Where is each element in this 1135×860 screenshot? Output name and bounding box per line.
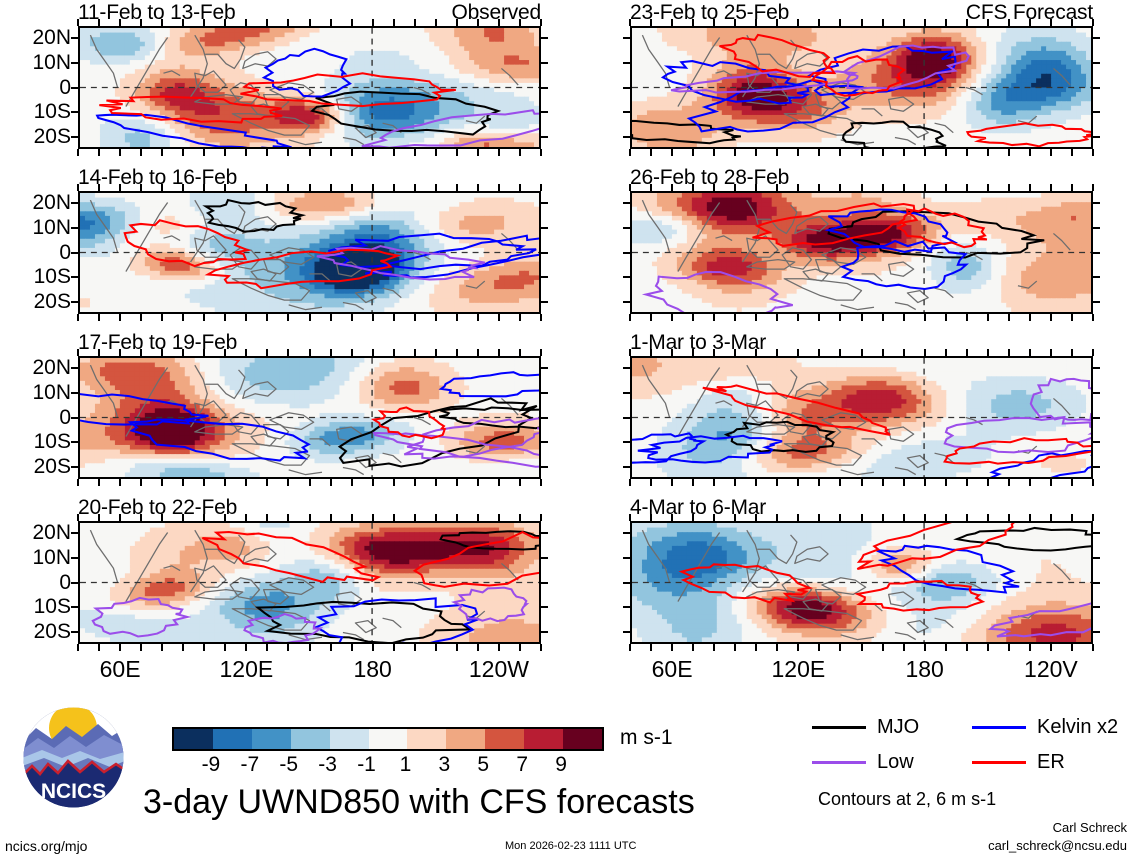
y-axis-tick: [623, 136, 630, 138]
x-axis-tick: [119, 644, 121, 651]
x-axis-tick: [797, 314, 799, 321]
x-axis-tick: [224, 479, 226, 486]
x-axis-tick: [351, 514, 353, 521]
x-axis-tick: [140, 184, 142, 191]
colorbar-swatch-3: [291, 729, 330, 749]
y-axis-label: 10S: [34, 595, 71, 619]
x-axis-tick: [882, 349, 884, 356]
x-axis-tick: [692, 184, 694, 191]
x-axis-tick: [671, 184, 673, 191]
x-axis-tick: [734, 184, 736, 191]
y-axis-tick: [623, 532, 630, 534]
x-axis-tick: [98, 349, 100, 356]
x-axis-tick: [498, 644, 500, 651]
y-axis-tick: [1093, 136, 1100, 138]
x-axis-tick: [924, 184, 926, 191]
x-axis-tick: [797, 514, 799, 521]
x-axis-tick: [203, 314, 205, 321]
x-axis-tick: [797, 349, 799, 356]
x-axis-tick: [945, 514, 947, 521]
x-axis-tick: [903, 479, 905, 486]
main-title: 3-day UWND850 with CFS forecasts: [143, 783, 695, 822]
x-axis-tick: [540, 644, 542, 651]
x-axis-tick: [945, 349, 947, 356]
x-axis-tick: [456, 514, 458, 521]
x-axis-tick: [119, 19, 121, 26]
y-axis-label: 10N: [32, 381, 71, 405]
x-axis-tick: [924, 349, 926, 356]
y-axis-tick: [71, 87, 78, 89]
y-axis-tick: [1093, 466, 1100, 468]
y-axis-label: 20S: [34, 125, 71, 149]
x-axis-tick: [203, 149, 205, 156]
x-axis-tick: [287, 479, 289, 486]
x-axis-tick: [839, 644, 841, 651]
y-axis-label: 20N: [32, 356, 71, 380]
y-axis-tick: [71, 227, 78, 229]
x-axis-tick: [692, 19, 694, 26]
y-axis-tick: [541, 606, 548, 608]
y-axis-tick: [71, 37, 78, 39]
x-axis-tick: [540, 314, 542, 321]
x-axis-tick: [456, 19, 458, 26]
x-axis-tick: [140, 149, 142, 156]
plot-area: [630, 26, 1093, 149]
x-axis-tick: [414, 314, 416, 321]
colorbar-tick-label: 1: [400, 753, 412, 777]
colorbar-swatch-5: [369, 729, 408, 749]
y-axis-tick: [541, 62, 548, 64]
legend-label: Low: [877, 751, 914, 774]
x-axis-tick: [629, 19, 631, 26]
x-axis-tick: [266, 149, 268, 156]
x-axis-tick: [882, 314, 884, 321]
y-axis-label: 0: [59, 241, 71, 265]
x-axis-tick: [692, 479, 694, 486]
x-axis-tick: [414, 19, 416, 26]
x-axis-tick: [650, 314, 652, 321]
x-axis-label: 60E: [652, 656, 693, 683]
legend-line-swatch: [812, 761, 866, 764]
y-axis-tick: [1093, 301, 1100, 303]
x-axis-tick: [924, 314, 926, 321]
x-axis-tick: [182, 19, 184, 26]
x-axis-label: 120V: [1024, 656, 1078, 683]
x-axis-tick: [1029, 349, 1031, 356]
x-axis-tick: [1029, 149, 1031, 156]
x-axis-tick: [818, 349, 820, 356]
y-axis-tick: [541, 532, 548, 534]
x-axis-tick: [987, 644, 989, 651]
colorbar-tick-label: 3: [439, 753, 451, 777]
x-axis-tick: [861, 19, 863, 26]
x-axis-tick: [713, 644, 715, 651]
x-axis-tick: [119, 184, 121, 191]
y-axis-tick: [71, 392, 78, 394]
x-axis-tick: [966, 184, 968, 191]
y-axis-label: 10S: [34, 430, 71, 454]
x-axis-tick: [161, 19, 163, 26]
x-axis-tick: [498, 479, 500, 486]
x-axis-tick: [903, 19, 905, 26]
ncics-logo-text: NCICS: [41, 780, 106, 803]
x-axis-tick: [435, 349, 437, 356]
x-axis-tick: [435, 644, 437, 651]
panel-26-feb-to-28-feb: 26-Feb to 28-Feb: [630, 191, 1093, 314]
x-axis-label: 120E: [220, 656, 274, 683]
x-axis-tick: [1050, 149, 1052, 156]
x-axis-tick: [287, 514, 289, 521]
x-axis-tick: [797, 644, 799, 651]
x-axis-tick: [861, 644, 863, 651]
x-axis-tick: [713, 149, 715, 156]
x-axis-tick: [330, 19, 332, 26]
y-axis-tick: [1093, 631, 1100, 633]
x-axis-tick: [1071, 184, 1073, 191]
x-axis-tick: [797, 19, 799, 26]
x-axis-tick: [351, 644, 353, 651]
x-axis-tick: [414, 514, 416, 521]
y-axis-tick: [71, 441, 78, 443]
x-axis-tick: [203, 349, 205, 356]
x-axis-tick: [140, 514, 142, 521]
legend-item-mjo: MJO: [812, 716, 972, 739]
x-axis-tick: [266, 514, 268, 521]
x-axis-tick: [393, 514, 395, 521]
y-axis-tick: [623, 582, 630, 584]
y-axis-label: 0: [59, 76, 71, 100]
x-axis-tick: [456, 184, 458, 191]
panel-23-feb-to-25-feb: 23-Feb to 25-FebCFS Forecast: [630, 26, 1093, 149]
x-axis-tick: [629, 644, 631, 651]
y-axis-tick: [541, 557, 548, 559]
x-axis-tick: [351, 149, 353, 156]
y-axis-label: 10S: [34, 265, 71, 289]
x-axis-tick: [330, 514, 332, 521]
x-axis-tick: [924, 644, 926, 651]
x-axis-tick: [776, 19, 778, 26]
x-axis-tick: [266, 349, 268, 356]
panel-title: 14-Feb to 16-Feb: [78, 166, 237, 190]
y-axis-tick: [541, 301, 548, 303]
plot-area: [630, 191, 1093, 314]
y-axis-tick: [623, 392, 630, 394]
panel-11-feb-to-13-feb: 11-Feb to 13-FebObserved20N10N010S20S: [78, 26, 541, 149]
panel-title: 26-Feb to 28-Feb: [630, 166, 789, 190]
x-axis-tick: [519, 314, 521, 321]
x-axis-tick: [1029, 479, 1031, 486]
x-axis-tick: [1050, 184, 1052, 191]
x-axis-tick: [477, 644, 479, 651]
x-axis-tick: [1092, 314, 1094, 321]
x-axis-tick: [98, 149, 100, 156]
x-axis-tick: [435, 149, 437, 156]
x-axis-tick: [755, 149, 757, 156]
x-axis-tick: [671, 479, 673, 486]
x-axis-tick: [882, 479, 884, 486]
x-axis-tick: [182, 644, 184, 651]
y-axis-tick: [1093, 417, 1100, 419]
y-axis-tick: [623, 62, 630, 64]
x-axis-tick: [1050, 644, 1052, 651]
x-axis-tick: [203, 19, 205, 26]
y-axis-tick: [541, 441, 548, 443]
x-axis-tick: [351, 314, 353, 321]
y-axis-tick: [541, 87, 548, 89]
x-axis-tick: [77, 479, 79, 486]
x-axis-tick: [245, 644, 247, 651]
y-axis-tick: [71, 252, 78, 254]
y-axis-tick: [71, 466, 78, 468]
x-axis-tick: [98, 19, 100, 26]
x-axis-tick: [203, 514, 205, 521]
x-axis-tick: [1029, 514, 1031, 521]
x-axis-tick: [945, 149, 947, 156]
x-axis-tick: [119, 349, 121, 356]
x-axis-tick: [861, 184, 863, 191]
x-axis-label: 60E: [100, 656, 141, 683]
colorbar-tick-label: -5: [279, 753, 298, 777]
x-axis-tick: [309, 479, 311, 486]
x-axis-tick: [351, 349, 353, 356]
x-axis-tick: [393, 184, 395, 191]
x-axis-tick: [713, 514, 715, 521]
plot-area: [78, 356, 541, 479]
x-axis-tick: [245, 314, 247, 321]
y-axis-tick: [541, 466, 548, 468]
x-axis-tick: [309, 349, 311, 356]
colorbar: -9-7-5-3-113579 m s-1: [172, 727, 604, 777]
x-axis-tick: [1029, 19, 1031, 26]
y-axis-tick: [623, 227, 630, 229]
x-axis-tick: [987, 349, 989, 356]
x-axis-tick: [182, 479, 184, 486]
x-axis-tick: [755, 314, 757, 321]
x-axis-tick: [818, 19, 820, 26]
x-axis-tick: [414, 644, 416, 651]
x-axis-tick: [477, 479, 479, 486]
x-axis-tick: [945, 19, 947, 26]
x-axis-tick: [629, 314, 631, 321]
x-axis-tick: [1092, 19, 1094, 26]
x-axis-tick: [818, 514, 820, 521]
x-axis-tick: [1071, 349, 1073, 356]
x-axis-tick: [119, 314, 121, 321]
x-axis-tick: [1071, 149, 1073, 156]
x-axis-tick: [839, 479, 841, 486]
x-axis-tick: [161, 184, 163, 191]
x-axis-tick: [839, 19, 841, 26]
x-axis-tick: [456, 479, 458, 486]
x-axis-tick: [519, 479, 521, 486]
x-axis-label: 180: [905, 656, 943, 683]
x-axis-tick: [1050, 314, 1052, 321]
y-axis-tick: [71, 111, 78, 113]
x-axis-tick: [1029, 644, 1031, 651]
x-axis-tick: [1008, 314, 1010, 321]
x-axis-tick: [224, 514, 226, 521]
x-axis-tick: [734, 479, 736, 486]
x-axis-tick: [650, 644, 652, 651]
panel-title: 11-Feb to 13-Feb: [78, 1, 236, 25]
x-axis-tick: [1008, 149, 1010, 156]
x-axis-tick: [818, 314, 820, 321]
x-axis-tick: [456, 644, 458, 651]
y-axis-label: 20S: [34, 290, 71, 314]
x-axis-tick: [119, 149, 121, 156]
y-axis-tick: [541, 227, 548, 229]
x-axis-tick: [839, 349, 841, 356]
x-axis-tick: [266, 479, 268, 486]
y-axis-tick: [1093, 87, 1100, 89]
y-axis-tick: [71, 532, 78, 534]
x-axis-tick: [776, 149, 778, 156]
x-axis-tick: [161, 479, 163, 486]
panel-20-feb-to-22-feb: 20-Feb to 22-Feb20N10N010S20S60E120E1801…: [78, 521, 541, 644]
x-axis-tick: [861, 149, 863, 156]
x-axis-tick: [861, 314, 863, 321]
y-axis-tick: [623, 631, 630, 633]
x-axis-tick: [629, 514, 631, 521]
x-axis-tick: [629, 149, 631, 156]
colorbar-swatch-9: [524, 729, 563, 749]
y-axis-tick: [71, 557, 78, 559]
x-axis-tick: [182, 149, 184, 156]
x-axis-tick: [692, 314, 694, 321]
y-axis-label: 20S: [34, 455, 71, 479]
y-axis-tick: [541, 392, 548, 394]
colorbar-tick-label: 7: [516, 753, 528, 777]
x-axis-tick: [372, 349, 374, 356]
x-axis-tick: [882, 19, 884, 26]
x-axis-tick: [456, 349, 458, 356]
x-axis-tick: [372, 19, 374, 26]
x-axis-tick: [224, 644, 226, 651]
x-axis-tick: [309, 644, 311, 651]
x-axis-tick: [161, 349, 163, 356]
x-axis-tick: [650, 514, 652, 521]
x-axis-tick: [987, 19, 989, 26]
x-axis-tick: [477, 349, 479, 356]
x-axis-tick: [650, 349, 652, 356]
y-axis-label: 10N: [32, 51, 71, 75]
x-axis-tick: [351, 479, 353, 486]
x-axis-tick: [266, 314, 268, 321]
x-axis-tick: [477, 149, 479, 156]
x-axis-tick: [1092, 184, 1094, 191]
x-axis-tick: [393, 479, 395, 486]
x-axis-tick: [287, 314, 289, 321]
x-axis-tick: [839, 184, 841, 191]
x-axis-tick: [287, 149, 289, 156]
colorbar-tick-label: -3: [318, 753, 337, 777]
x-axis-tick: [498, 19, 500, 26]
y-axis-tick: [71, 62, 78, 64]
legend-label: Kelvin x2: [1037, 716, 1118, 739]
colorbar-swatch-1: [213, 729, 252, 749]
colorbar-swatch-10: [563, 729, 602, 749]
y-axis-tick: [1093, 252, 1100, 254]
x-axis-tick: [1050, 479, 1052, 486]
y-axis-label: 20N: [32, 26, 71, 50]
x-axis-tick: [797, 149, 799, 156]
x-axis-tick: [1092, 349, 1094, 356]
x-axis-tick: [882, 644, 884, 651]
x-axis-tick: [266, 644, 268, 651]
x-axis-tick: [77, 19, 79, 26]
x-axis-tick: [540, 149, 542, 156]
y-axis-tick: [541, 417, 548, 419]
panel-1-mar-to-3-mar: 1-Mar to 3-Mar: [630, 356, 1093, 479]
x-axis-tick: [203, 644, 205, 651]
x-axis-tick: [650, 19, 652, 26]
x-axis-tick: [435, 314, 437, 321]
x-axis-tick: [77, 149, 79, 156]
x-axis-tick: [966, 479, 968, 486]
x-axis-tick: [98, 514, 100, 521]
x-axis-tick: [224, 349, 226, 356]
x-axis-tick: [477, 514, 479, 521]
x-axis-tick: [966, 19, 968, 26]
x-axis-tick: [1029, 184, 1031, 191]
panel-title: 17-Feb to 19-Feb: [78, 331, 237, 355]
y-axis-label: 20S: [34, 620, 71, 644]
legend-line-swatch: [812, 726, 866, 729]
colorbar-swatch-8: [485, 729, 524, 749]
x-axis-tick: [351, 184, 353, 191]
x-axis-tick: [755, 514, 757, 521]
x-axis-tick: [287, 349, 289, 356]
colorbar-swatch-2: [252, 729, 291, 749]
y-axis-tick: [1093, 276, 1100, 278]
x-axis-tick: [372, 314, 374, 321]
x-axis-tick: [351, 19, 353, 26]
x-axis-tick: [945, 314, 947, 321]
y-axis-label: 20N: [32, 191, 71, 215]
x-axis-tick: [987, 149, 989, 156]
x-axis-tick: [519, 184, 521, 191]
y-axis-label: 10S: [34, 100, 71, 124]
x-axis-tick: [245, 184, 247, 191]
x-axis-tick: [456, 149, 458, 156]
y-axis-tick: [541, 136, 548, 138]
y-axis-tick: [623, 301, 630, 303]
y-axis-tick: [71, 606, 78, 608]
x-axis-tick: [966, 514, 968, 521]
x-axis-tick: [945, 184, 947, 191]
x-axis-tick: [519, 349, 521, 356]
x-axis-tick: [755, 19, 757, 26]
legend-line-swatch: [972, 761, 1026, 764]
x-axis-tick: [776, 314, 778, 321]
colorbar-tick-label: -7: [240, 753, 259, 777]
x-axis-tick: [224, 19, 226, 26]
x-axis-tick: [540, 514, 542, 521]
plot-area: [78, 26, 541, 149]
legend-label: ER: [1037, 751, 1065, 774]
x-axis-tick: [1050, 349, 1052, 356]
y-axis-tick: [1093, 441, 1100, 443]
y-axis-tick: [541, 202, 548, 204]
x-axis-tick: [1092, 479, 1094, 486]
legend-row: LowER: [812, 751, 1132, 774]
x-axis-tick: [77, 349, 79, 356]
x-axis-tick: [1092, 644, 1094, 651]
x-axis-tick: [309, 514, 311, 521]
x-axis-tick: [119, 479, 121, 486]
x-axis-tick: [818, 184, 820, 191]
x-axis-tick: [734, 314, 736, 321]
